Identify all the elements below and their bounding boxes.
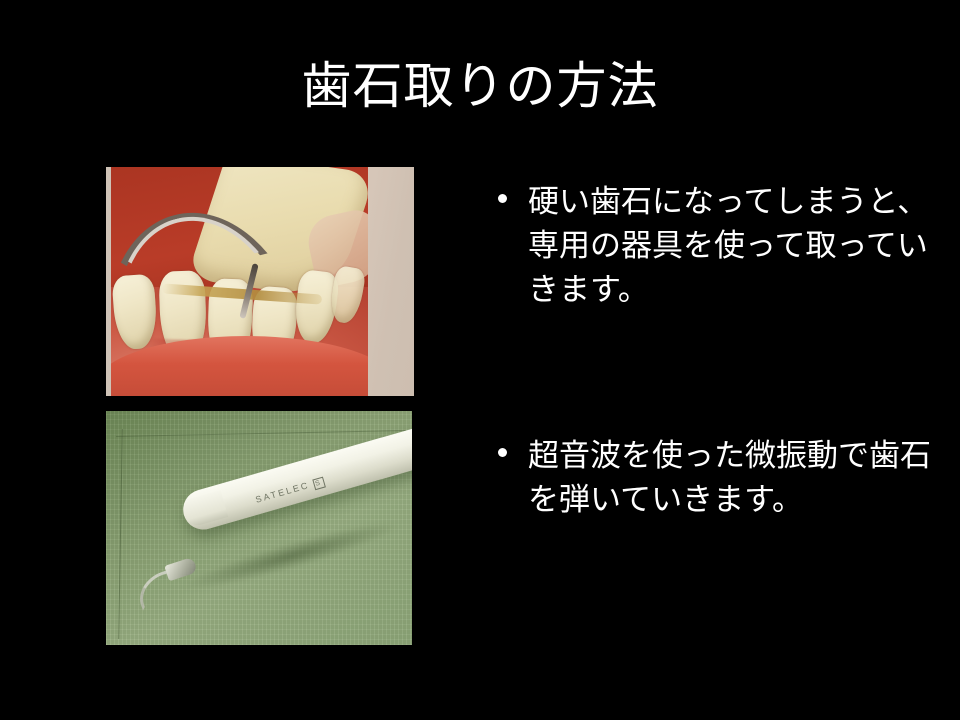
drape-seam xyxy=(118,429,123,639)
bullet-text: 硬い歯石になってしまうと、専用の器具を使って取っていきます。 xyxy=(528,180,950,312)
drape-seam xyxy=(116,430,406,437)
list-item: 硬い歯石になってしまうと、専用の器具を使って取っていきます。 xyxy=(488,180,950,312)
photo-column: SATELECS xyxy=(106,167,414,645)
bullet-text: 超音波を使った微振動で歯石を弾いていきます。 xyxy=(528,434,950,522)
bullet-marker-icon xyxy=(498,194,507,203)
photo-border-left xyxy=(106,167,111,396)
slide-canvas: 歯石取りの方法 xyxy=(0,0,960,720)
handpiece-taper xyxy=(180,490,228,528)
bullet-marker-icon xyxy=(498,448,507,457)
ultrasonic-scaler-photo: SATELECS xyxy=(106,411,412,645)
bullet-column: 硬い歯石になってしまうと、専用の器具を使って取っていきます。 超音波を使った微振… xyxy=(488,180,950,522)
teeth-scaler-photo xyxy=(106,167,414,396)
photo-border-right xyxy=(368,167,414,396)
list-item: 超音波を使った微振動で歯石を弾いていきます。 xyxy=(488,434,950,522)
page-title: 歯石取りの方法 xyxy=(0,56,960,116)
